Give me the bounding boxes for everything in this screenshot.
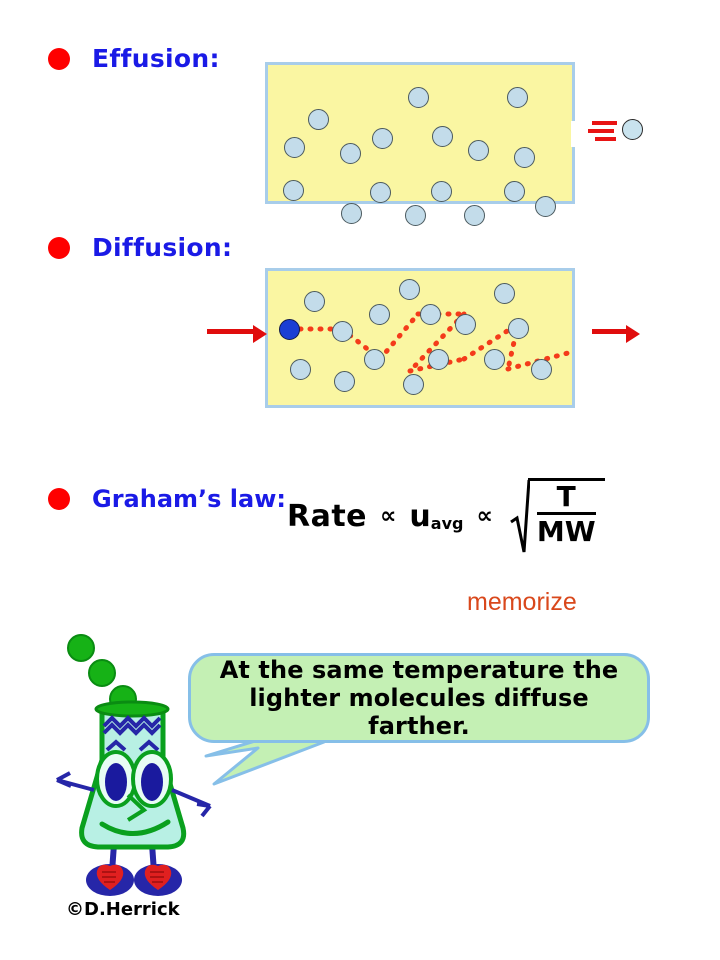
bullet-label-effusion: Effusion:: [92, 44, 220, 73]
gas-particle: [308, 109, 329, 130]
gas-particle: [508, 318, 529, 339]
formula-u-subscript: avg: [431, 514, 464, 533]
gas-particle: [494, 283, 515, 304]
shoe-right: [134, 864, 182, 896]
bullet-label-diffusion: Diffusion:: [92, 233, 232, 262]
gas-particle: [340, 143, 361, 164]
gas-particle: [370, 182, 391, 203]
bullet-dot-icon: [48, 488, 70, 510]
shoe-left: [86, 864, 134, 896]
bullet-label-grahams-law: Graham’s law:: [92, 485, 286, 513]
effusion-gas-box: [265, 62, 575, 204]
formula-rate: Rate: [287, 499, 367, 534]
tracer-particle: [279, 319, 300, 340]
gas-particle: [364, 349, 385, 370]
gas-particle: [431, 181, 452, 202]
gas-particle: [464, 205, 485, 226]
formula-proportional-icon: ∝: [380, 503, 396, 529]
gas-particle: [455, 314, 476, 335]
diffusion-arrow-left-head: [253, 325, 267, 343]
radical-sign-icon: [510, 478, 530, 554]
formula-square-root: T MW: [510, 478, 605, 554]
diffusion-arrow-left: [207, 329, 255, 334]
bullet-row-diffusion: Diffusion:: [48, 233, 232, 262]
memorize-annotation: memorize: [467, 588, 577, 617]
gas-particle: [290, 359, 311, 380]
gas-particle: [420, 304, 441, 325]
gas-particle: [399, 279, 420, 300]
gas-particle: [432, 126, 453, 147]
formula-u: u: [409, 499, 430, 534]
copyright-label: ©D.Herrick: [66, 899, 180, 920]
gas-particle: [507, 87, 528, 108]
gas-particle: [535, 196, 556, 217]
grahams-law-formula: Rate ∝ uavg ∝ T MW: [287, 478, 605, 554]
bullet-row-grahams-law: Graham’s law:: [48, 485, 286, 513]
pupil-right: [141, 763, 163, 801]
diffusion-gas-box: [265, 268, 575, 408]
diffusion-arrow-right: [592, 329, 628, 334]
gas-particle: [332, 321, 353, 342]
bullet-row-effusion: Effusion:: [48, 44, 220, 73]
diffusion-arrow-right-head: [626, 325, 640, 343]
flask-rim: [96, 702, 168, 716]
gas-particle: [408, 87, 429, 108]
gas-particle: [341, 203, 362, 224]
pupil-left: [105, 763, 127, 801]
gas-particle: [405, 205, 426, 226]
escaped-particle: [622, 119, 643, 140]
gas-particle: [484, 349, 505, 370]
formula-denominator: MW: [537, 517, 596, 546]
gas-particle: [372, 128, 393, 149]
formula-proportional-icon: ∝: [476, 503, 492, 529]
speech-bubble-text: At the same temperature the lighter mole…: [191, 656, 647, 741]
speech-bubble: At the same temperature the lighter mole…: [188, 653, 650, 743]
speed-line-icon: [588, 129, 614, 133]
formula-numerator: T: [557, 481, 576, 511]
slide-canvas: Effusion: Diffusion:: [0, 0, 720, 960]
effusion-wall-hole: [571, 121, 575, 147]
escaping-particle-group: [588, 116, 648, 146]
gas-particle: [468, 140, 489, 161]
gas-particle: [283, 180, 304, 201]
arm-left: [57, 773, 94, 790]
gas-particle: [304, 291, 325, 312]
gas-particle: [403, 374, 424, 395]
gas-particle: [428, 349, 449, 370]
gas-particle: [514, 147, 535, 168]
speed-line-icon: [592, 121, 617, 125]
gas-particle: [369, 304, 390, 325]
gas-particle: [531, 359, 552, 380]
gas-particle: [334, 371, 355, 392]
bubble-icon: [68, 635, 136, 712]
bullet-dot-icon: [48, 237, 70, 259]
speed-line-icon: [595, 137, 616, 141]
gas-particle: [504, 181, 525, 202]
bullet-dot-icon: [48, 48, 70, 70]
formula-fraction: T MW: [528, 478, 605, 554]
gas-particle: [284, 137, 305, 158]
